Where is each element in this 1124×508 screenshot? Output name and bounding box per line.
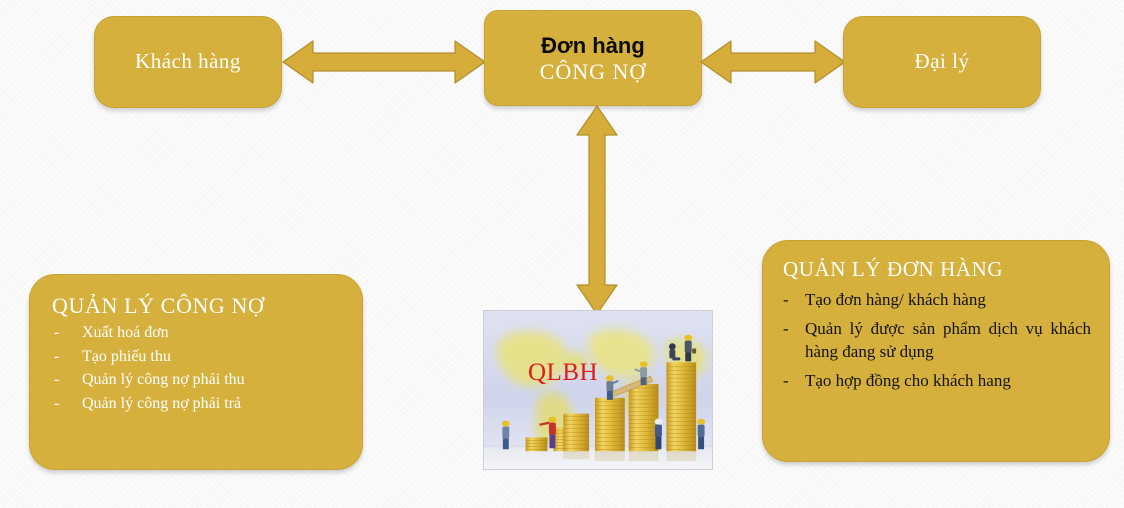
list-item: - Tạo phiếu thu — [52, 346, 342, 368]
arrow-hub-to-photo-icon — [572, 104, 622, 316]
bullet-dash-icon: - — [52, 393, 82, 415]
panel-don-hang-title: QUẢN LÝ ĐƠN HÀNG — [783, 257, 1091, 281]
node-khach-hang-label: Khách hàng — [135, 49, 241, 74]
node-don-hang-cong-no[interactable]: Đơn hàng CÔNG NỢ — [484, 10, 702, 106]
list-item-label: Quản lý công nợ phải trả — [82, 393, 342, 415]
list-item: - Tạo đơn hàng/ khách hàng — [783, 289, 1091, 312]
list-item: - Quản lý được sản phẩm dịch vụ khách hà… — [783, 318, 1091, 364]
bullet-dash-icon: - — [52, 322, 82, 344]
node-khach-hang[interactable]: Khách hàng — [94, 16, 282, 108]
arrow-customer-to-hub-icon — [281, 35, 487, 89]
panel-quan-ly-don-hang[interactable]: QUẢN LÝ ĐƠN HÀNG - Tạo đơn hàng/ khách h… — [762, 240, 1110, 462]
node-dai-ly-label: Đại lý — [915, 49, 970, 74]
list-item: - Quản lý công nợ phải trả — [52, 393, 342, 415]
list-item-label: Xuất hoá đơn — [82, 322, 342, 344]
panel-quan-ly-cong-no[interactable]: QUẢN LÝ CÔNG NỢ - Xuất hoá đơn - Tạo phi… — [29, 274, 363, 470]
qlbh-photo-caption: QLBH — [528, 359, 598, 387]
panel-cong-no-list: - Xuất hoá đơn - Tạo phiếu thu - Quản lý… — [52, 322, 342, 414]
list-item-label: Tạo phiếu thu — [82, 346, 342, 368]
panel-cong-no-title: QUẢN LÝ CÔNG NỢ — [52, 293, 342, 318]
bullet-dash-icon: - — [783, 289, 805, 312]
arrow-hub-to-agent-icon — [699, 35, 847, 89]
hub-title-don-hang: Đơn hàng — [541, 34, 645, 58]
panel-don-hang-list: - Tạo đơn hàng/ khách hàng - Quản lý đượ… — [783, 289, 1091, 393]
list-item-label: Quản lý công nợ phải thu — [82, 369, 342, 391]
qlbh-photo: QLBH — [483, 310, 713, 470]
hub-title-cong-no: CÔNG NỢ — [540, 60, 647, 84]
list-item-label: Quản lý được sản phẩm dịch vụ khách hàng… — [805, 318, 1091, 364]
bullet-dash-icon: - — [783, 370, 805, 393]
bullet-dash-icon: - — [52, 369, 82, 391]
list-item-label: Tạo hợp đồng cho khách hang — [805, 370, 1091, 393]
list-item: - Quản lý công nợ phải thu — [52, 369, 342, 391]
bullet-dash-icon: - — [52, 346, 82, 368]
bullet-dash-icon: - — [783, 318, 805, 341]
list-item: - Xuất hoá đơn — [52, 322, 342, 344]
list-item: - Tạo hợp đồng cho khách hang — [783, 370, 1091, 393]
node-dai-ly[interactable]: Đại lý — [843, 16, 1041, 108]
diagram-canvas: Khách hàng Đơn hàng CÔNG NỢ Đại lý QUẢN … — [0, 0, 1124, 508]
list-item-label: Tạo đơn hàng/ khách hàng — [805, 289, 1091, 312]
